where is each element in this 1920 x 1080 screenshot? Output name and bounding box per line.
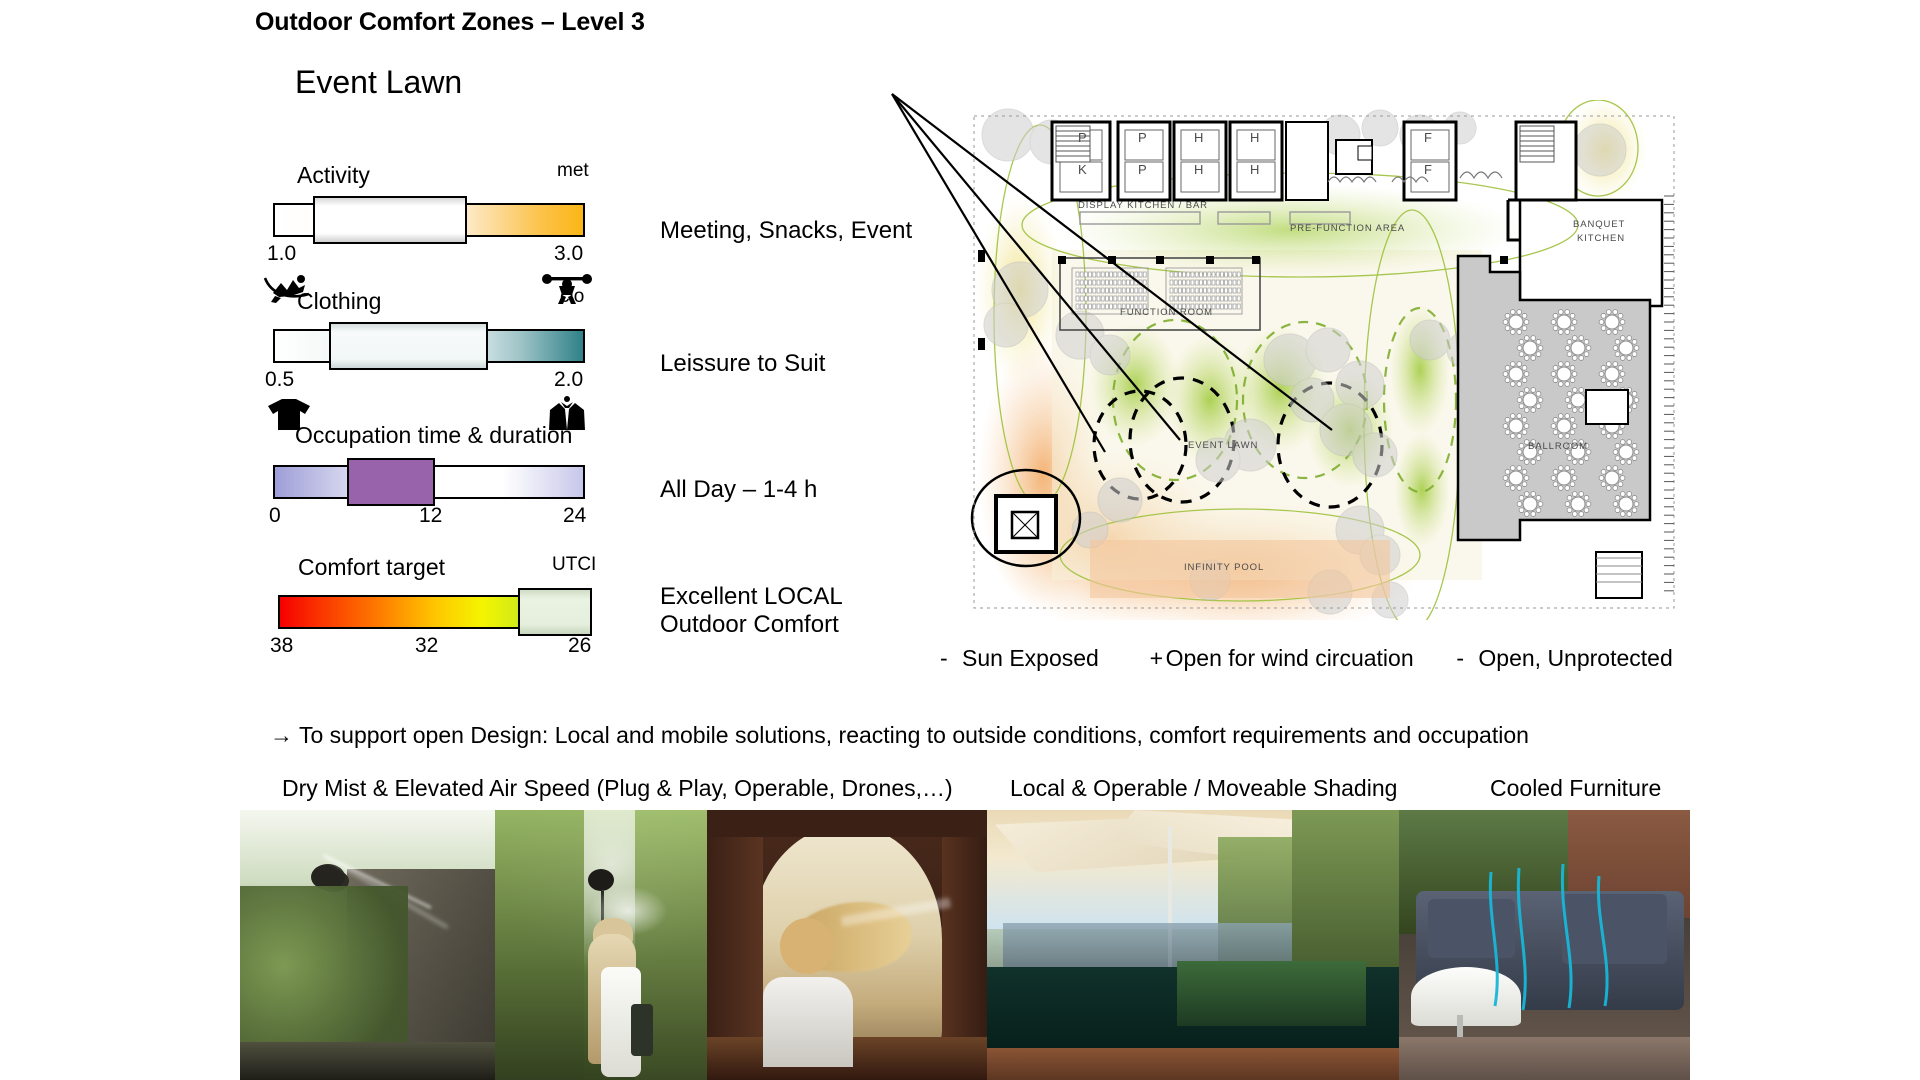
slider-occupation-max-value: 24 — [563, 504, 586, 528]
photo-strip — [240, 810, 1690, 1080]
slider-clothing-label: Clothing — [297, 288, 381, 315]
slider-occupation-label: Occupation time & duration — [295, 422, 572, 449]
slider-comfort-thumb[interactable] — [518, 588, 592, 636]
photo-caption-shading: Local & Operable / Moveable Shading — [1010, 775, 1397, 802]
photo-caption-dry-mist: Dry Mist & Elevated Air Speed (Plug & Pl… — [282, 775, 953, 802]
slider-occupation-min-value: 0 — [269, 504, 281, 528]
plan-label-infinity-pool: INFINITY POOL — [1184, 562, 1264, 573]
slider-comfort-max-value: 26 — [568, 634, 591, 658]
plan-label-banquet: BANQUET — [1573, 219, 1625, 230]
plan-label: F — [1424, 162, 1433, 177]
slider-activity-thumb[interactable] — [313, 196, 467, 244]
plan-caption: -Sun Exposed +Open for wind circuation -… — [940, 645, 1673, 672]
page-title: Outdoor Comfort Zones – Level 3 — [255, 8, 645, 37]
plan-caption-text-1: Open for wind circuation — [1166, 645, 1414, 672]
plan-caption-sign-2: - — [1456, 645, 1478, 672]
slider-activity-unit: met — [557, 160, 589, 182]
plan-caption-sign-1: + — [1150, 645, 1166, 672]
slider-clothing-min-value: 0.5 — [265, 368, 294, 392]
photo-caption-furniture: Cooled Furniture — [1490, 775, 1661, 802]
plan-label-ballroom: BALLROOM — [1528, 441, 1588, 452]
slider-clothing-max-value: 2.0 — [554, 368, 583, 392]
plan-label: F — [1424, 130, 1433, 145]
zone-title: Event Lawn — [295, 64, 462, 101]
plan-label-banquet-kitchen: KITCHEN — [1577, 233, 1625, 244]
description-activity: Meeting, Snacks, Event — [660, 217, 912, 245]
support-note: → To support open Design: Local and mobi… — [270, 722, 1529, 749]
slider-comfort-unit: UTCI — [552, 554, 596, 576]
photo-hair-in-wind-vehicle — [707, 810, 987, 1080]
photo-cooled-lounge-furniture — [1399, 810, 1690, 1080]
leader-lines — [880, 80, 1350, 520]
plan-caption-text-2: Open, Unprotected — [1478, 645, 1672, 672]
plan-caption-text-0: Sun Exposed — [962, 645, 1099, 672]
photo-woman-under-mister — [495, 810, 707, 1080]
slider-clothing-unit: clo — [560, 286, 584, 308]
plan-caption-sign-0: - — [940, 645, 962, 672]
slider-comfort-min-value: 38 — [270, 634, 293, 658]
slider-activity-max-value: 3.0 — [554, 242, 583, 266]
description-occupation: All Day – 1-4 h — [660, 476, 817, 504]
slider-comfort-label: Comfort target — [298, 554, 445, 581]
slider-occupation-thumb[interactable] — [347, 458, 435, 506]
photo-mist-nozzle-foliage — [240, 810, 495, 1080]
photo-shade-sails-courtyard — [987, 810, 1399, 1080]
slider-activity-min-value: 1.0 — [267, 242, 296, 266]
description-clothing: Leissure to Suit — [660, 350, 825, 378]
slider-clothing-thumb[interactable] — [329, 322, 488, 370]
description-comfort: Excellent LOCAL Outdoor Comfort — [660, 583, 843, 640]
slider-activity-label: Activity — [297, 162, 370, 189]
slider-comfort-mid-value: 32 — [415, 634, 438, 658]
slider-occupation-mid-value: 12 — [419, 504, 442, 528]
